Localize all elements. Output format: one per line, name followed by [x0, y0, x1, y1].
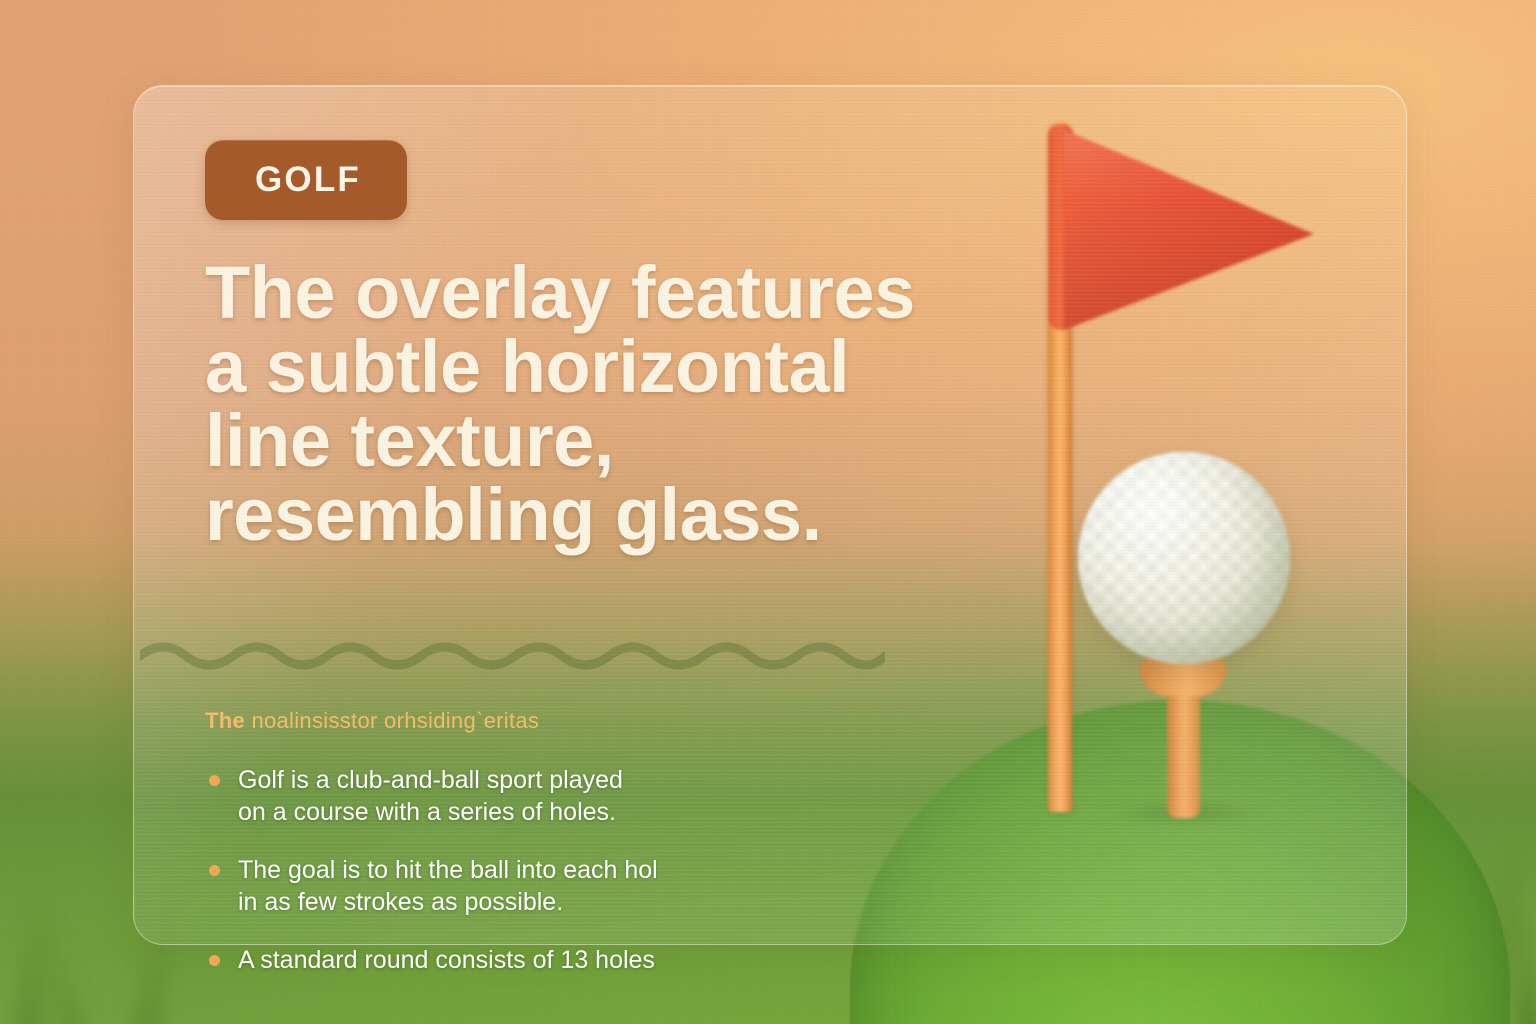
- bullet-dot-icon: [209, 955, 220, 966]
- bullet-line: on a course with a series of holes.: [238, 796, 738, 828]
- poster-canvas: GOLF The overlay features a subtle horiz…: [0, 0, 1536, 1024]
- subtitle-lead: The: [205, 708, 245, 733]
- headline-line-2: a subtle horizontal: [205, 330, 935, 404]
- headline-line-1: The overlay features: [205, 256, 935, 330]
- bullet-line: The goal is to hit the ball into each ho…: [238, 854, 738, 886]
- bullet-list: Golf is a club-and-ball sport played on …: [205, 764, 825, 976]
- wavy-divider: [140, 634, 885, 674]
- bullet-dot-icon: [209, 775, 220, 786]
- card-content: GOLF The overlay features a subtle horiz…: [205, 140, 965, 552]
- card-lower-content: The noalinsisstor orhsiding`eritas Golf …: [205, 708, 825, 976]
- bullet-line: A standard round consists of 13 holes: [238, 944, 738, 976]
- subtitle: The noalinsisstor orhsiding`eritas: [205, 708, 825, 734]
- list-item: The goal is to hit the ball into each ho…: [205, 854, 738, 918]
- bullet-dot-icon: [209, 865, 220, 876]
- headline-line-4: resembling glass.: [205, 478, 935, 552]
- bullet-line: in as few strokes as possible.: [238, 886, 738, 918]
- headline-line-3: line texture,: [205, 404, 935, 478]
- headline: The overlay features a subtle horizontal…: [205, 256, 935, 552]
- list-item: A standard round consists of 13 holes: [205, 944, 738, 976]
- category-badge[interactable]: GOLF: [205, 140, 407, 220]
- list-item: Golf is a club-and-ball sport played on …: [205, 764, 738, 828]
- bullet-line: Golf is a club-and-ball sport played: [238, 764, 738, 796]
- subtitle-rest: noalinsisstor orhsiding`eritas: [251, 708, 539, 733]
